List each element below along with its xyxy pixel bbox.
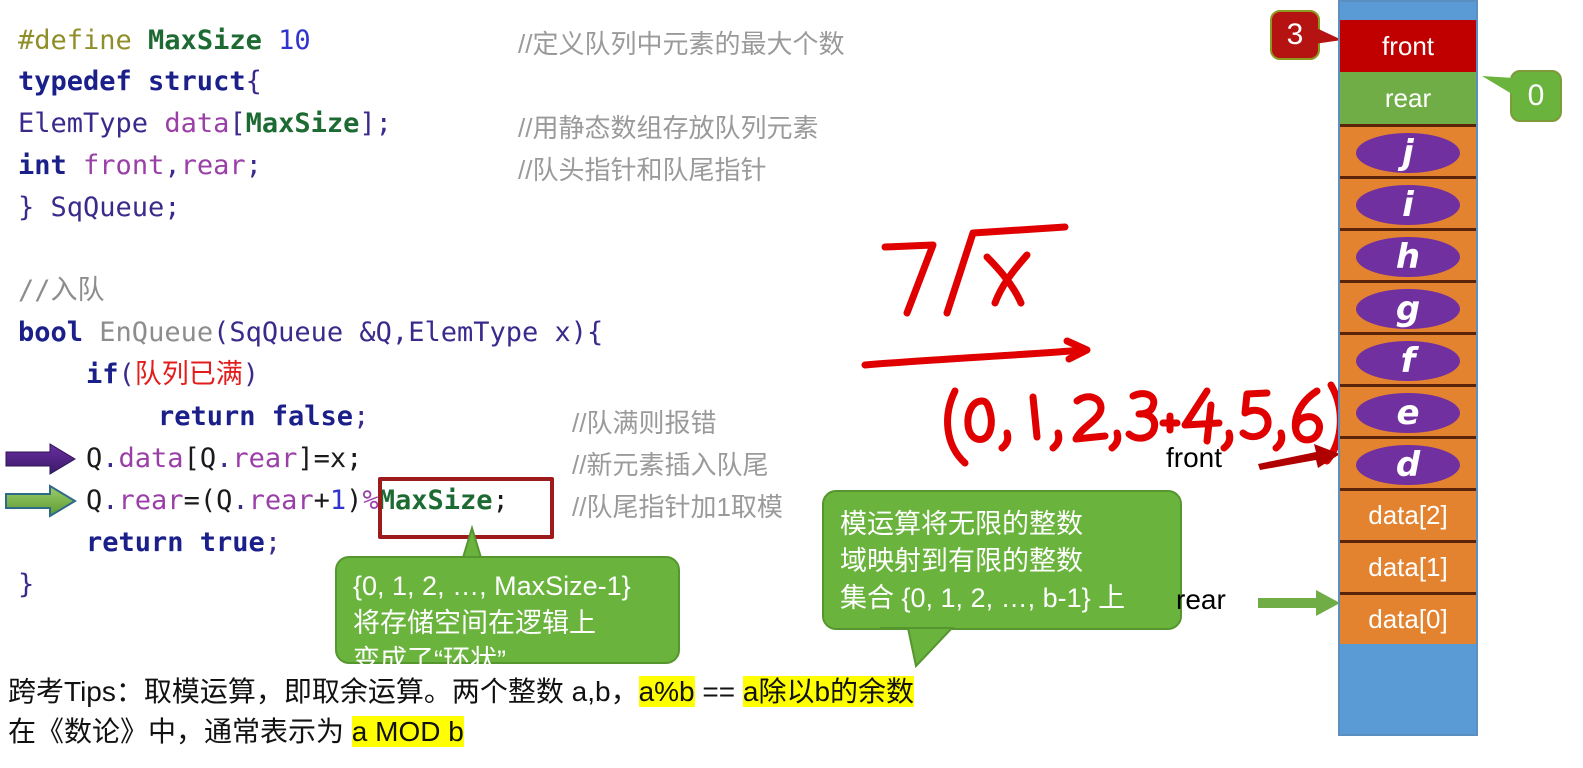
code-token: ; bbox=[265, 527, 281, 558]
code-token: [ bbox=[184, 443, 200, 474]
code-token: . bbox=[102, 485, 118, 516]
code-token: #define bbox=[18, 25, 148, 56]
code-token bbox=[262, 25, 278, 56]
bottom-tips: 跨考Tips：取模运算，即取余运算。两个整数 a,b，a%b == a除以b的余… bbox=[8, 672, 1328, 752]
queue-cell: rear bbox=[1340, 72, 1476, 124]
queue-cell: j bbox=[1340, 124, 1476, 176]
code-token: , bbox=[164, 150, 180, 181]
queue-cell-label: data[2] bbox=[1368, 500, 1448, 531]
code-line: return true; bbox=[86, 522, 281, 563]
code-token: typedef struct bbox=[18, 66, 246, 97]
tips-highlight-amodb-words: a MOD b bbox=[352, 716, 464, 747]
code-token: =( bbox=[184, 485, 217, 516]
tips-line1-text: 跨考Tips：取模运算，即取余运算。两个整数 a,b， bbox=[8, 676, 639, 707]
queue-element-label: f bbox=[1401, 341, 1416, 381]
code-comment: //队头指针和队尾指针 bbox=[518, 150, 766, 187]
queue-element-ellipse: d bbox=[1356, 445, 1460, 485]
code-token: Q bbox=[200, 443, 216, 474]
code-comment: //新元素插入队尾 bbox=[572, 445, 768, 482]
code-token: data bbox=[164, 108, 229, 139]
queue-cell: h bbox=[1340, 228, 1476, 280]
code-token: [ bbox=[229, 108, 245, 139]
tips-line1-eq: == bbox=[695, 676, 743, 707]
code-token: ( bbox=[213, 317, 229, 348]
code-token: ) bbox=[346, 485, 362, 516]
code-token: EnQueue bbox=[99, 317, 213, 348]
code-token bbox=[83, 317, 99, 348]
code-token: . bbox=[216, 443, 232, 474]
green-arrow-icon bbox=[6, 485, 76, 517]
queue-element-ellipse: j bbox=[1356, 133, 1460, 173]
code-token: front bbox=[83, 150, 164, 181]
code-line: int front,rear; bbox=[18, 145, 262, 186]
queue-cell: e bbox=[1340, 384, 1476, 436]
code-token: return false bbox=[158, 401, 353, 432]
code-line: } bbox=[18, 564, 34, 605]
code-token: ) bbox=[243, 359, 259, 390]
code-token: { bbox=[246, 66, 262, 97]
code-comment: //用静态数组存放队列元素 bbox=[518, 108, 818, 145]
queue-element-ellipse: f bbox=[1356, 341, 1460, 381]
code-token: rear bbox=[249, 485, 314, 516]
code-line: #define MaxSize 10 bbox=[18, 20, 311, 61]
code-token: rear bbox=[232, 443, 297, 474]
callout-left-line-2: 将存储空间在逻辑上 bbox=[353, 605, 662, 642]
rear-index-value: 0 bbox=[1528, 79, 1545, 113]
queue-element-label: h bbox=[1396, 237, 1420, 277]
tips-line2-text: 在《数论》中，通常表示为 bbox=[8, 716, 352, 747]
callout-right-line-2: 域映射到有限的整数 bbox=[840, 543, 1164, 580]
code-token: MaxSize bbox=[148, 25, 262, 56]
code-token: ]=x; bbox=[297, 443, 362, 474]
code-token: 队列已满 bbox=[135, 359, 243, 390]
tips-line-1: 跨考Tips：取模运算，即取余运算。两个整数 a,b，a%b == a除以b的余… bbox=[8, 672, 1328, 712]
queue-cell: front bbox=[1340, 20, 1476, 72]
front-pointer-arrow-icon bbox=[1258, 440, 1342, 474]
code-token: ; bbox=[246, 150, 262, 181]
code-line: ElemType data[MaxSize]; bbox=[18, 103, 392, 144]
code-token: ( bbox=[119, 359, 135, 390]
code-token: int bbox=[18, 150, 67, 181]
tips-line-2: 在《数论》中，通常表示为 a MOD b bbox=[8, 712, 1328, 752]
code-comment: //队满则报错 bbox=[572, 403, 716, 440]
rear-pointer-arrow-icon bbox=[1258, 590, 1342, 616]
code-token: 10 bbox=[278, 25, 311, 56]
queue-cell-label: rear bbox=[1385, 83, 1431, 114]
queue-cell-label: front bbox=[1382, 31, 1434, 62]
slide-canvas: #define MaxSize 10typedef struct{ElemTyp… bbox=[0, 0, 1583, 768]
queue-cell-label: data[0] bbox=[1368, 604, 1448, 635]
rear-badge-tail bbox=[1480, 72, 1516, 98]
code-token: + bbox=[314, 485, 330, 516]
queue-cell: g bbox=[1340, 280, 1476, 332]
code-line: //入队 bbox=[18, 270, 105, 311]
code-line: return false; bbox=[158, 396, 369, 437]
code-line: Q.data[Q.rear]=x; bbox=[86, 438, 362, 479]
front-pointer-label: front bbox=[1166, 442, 1222, 474]
code-token: SqQueue bbox=[229, 317, 343, 348]
code-token: Q bbox=[86, 485, 102, 516]
code-token: return true bbox=[86, 527, 265, 558]
queue-cell: data[1] bbox=[1340, 540, 1476, 592]
callout-right-line-3: 集合 {0, 1, 2, …, b-1} 上 bbox=[840, 580, 1164, 617]
tips-highlight-amodb: a%b bbox=[639, 676, 695, 707]
purple-arrow-icon bbox=[6, 443, 76, 475]
code-token: bool bbox=[18, 317, 83, 348]
code-token: . bbox=[232, 485, 248, 516]
queue-element-label: i bbox=[1402, 185, 1414, 225]
queue-element-label: j bbox=[1402, 133, 1414, 173]
code-token: ElemType bbox=[408, 317, 538, 348]
code-line: if(队列已满) bbox=[86, 354, 259, 395]
code-token: rear bbox=[119, 485, 184, 516]
queue-element-ellipse: h bbox=[1356, 237, 1460, 277]
queue-cell-label: data[1] bbox=[1368, 552, 1448, 583]
code-token: &Q, bbox=[343, 317, 408, 348]
code-token: Q bbox=[86, 443, 102, 474]
code-token: x){ bbox=[538, 317, 603, 348]
code-token: % bbox=[362, 485, 378, 516]
queue-cell: f bbox=[1340, 332, 1476, 384]
front-index-value: 3 bbox=[1287, 18, 1304, 52]
code-token: ElemType bbox=[18, 108, 164, 139]
callout-circular-storage: {0, 1, 2, …, MaxSize-1} 将存储空间在逻辑上 变成了“环状… bbox=[335, 556, 680, 664]
code-token: } bbox=[18, 569, 34, 600]
rear-pointer-label: rear bbox=[1176, 584, 1226, 616]
queue-cell: d bbox=[1340, 436, 1476, 488]
code-token: rear bbox=[181, 150, 246, 181]
queue-element-ellipse: i bbox=[1356, 185, 1460, 225]
code-token: data bbox=[119, 443, 184, 474]
tips-highlight-remainder: a除以b的余数 bbox=[743, 676, 914, 707]
callout-modulo-explanation: 模运算将无限的整数 域映射到有限的整数 集合 {0, 1, 2, …, b-1}… bbox=[822, 490, 1182, 630]
code-line: typedef struct{ bbox=[18, 61, 262, 102]
callout-left-line-1: {0, 1, 2, …, MaxSize-1} bbox=[353, 568, 662, 605]
queue-cell: data[2] bbox=[1340, 488, 1476, 540]
queue-element-ellipse: g bbox=[1356, 289, 1460, 329]
queue-array-diagram: frontrearjihgfeddata[2]data[1]data[0] bbox=[1338, 0, 1478, 736]
code-token: Q bbox=[216, 485, 232, 516]
callout-right-line-1: 模运算将无限的整数 bbox=[840, 506, 1164, 543]
rear-index-badge: 0 bbox=[1510, 70, 1562, 122]
code-token: //入队 bbox=[18, 275, 105, 306]
code-token: ; bbox=[353, 401, 369, 432]
code-token bbox=[67, 150, 83, 181]
code-comment: //队尾指针加1取模 bbox=[572, 487, 783, 524]
code-token: } SqQueue; bbox=[18, 192, 181, 223]
code-line: bool EnQueue(SqQueue &Q,ElemType x){ bbox=[18, 312, 603, 353]
code-token: MaxSize bbox=[246, 108, 360, 139]
queue-element-ellipse: e bbox=[1356, 393, 1460, 433]
queue-cell: data[0] bbox=[1340, 592, 1476, 644]
callout-right-tail bbox=[880, 626, 1000, 668]
code-token: ]; bbox=[359, 108, 392, 139]
queue-element-label: d bbox=[1396, 445, 1420, 485]
queue-element-label: g bbox=[1396, 289, 1420, 329]
code-token: if bbox=[86, 359, 119, 390]
queue-cell: i bbox=[1340, 176, 1476, 228]
code-token: 1 bbox=[330, 485, 346, 516]
code-token: . bbox=[102, 443, 118, 474]
queue-element-label: e bbox=[1396, 393, 1419, 433]
code-comment: //定义队列中元素的最大个数 bbox=[518, 24, 844, 61]
code-line: } SqQueue; bbox=[18, 187, 181, 228]
